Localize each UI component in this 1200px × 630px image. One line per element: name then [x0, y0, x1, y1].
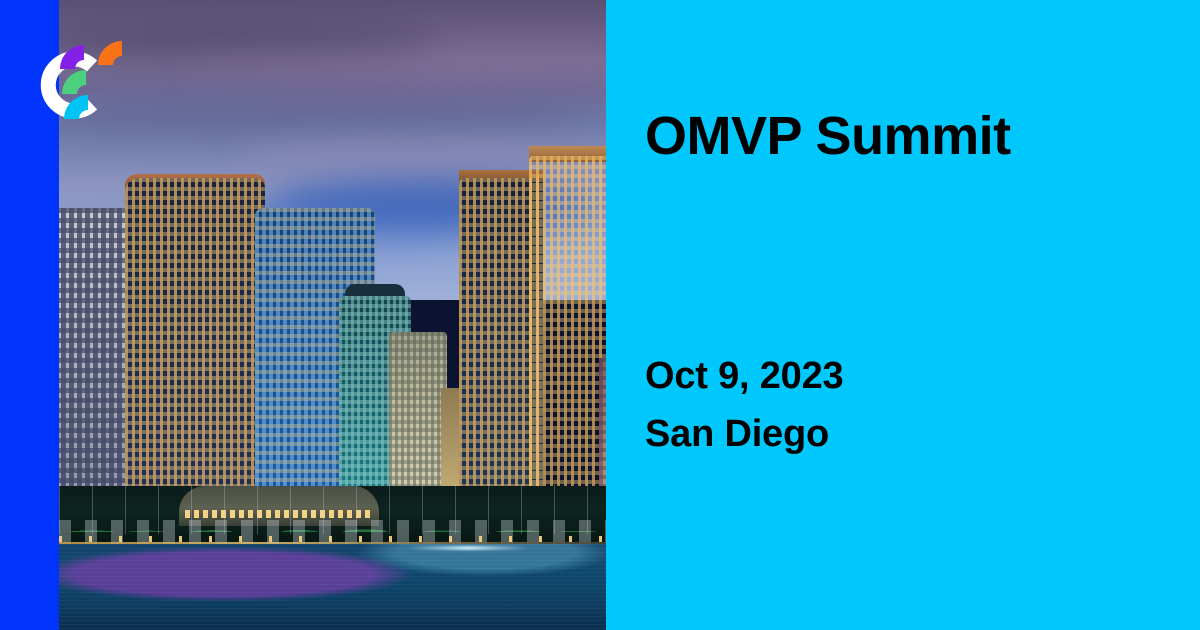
window-grid — [389, 332, 447, 508]
logo-arc-orange — [98, 41, 122, 65]
bay-water — [59, 544, 606, 630]
window-grid — [59, 208, 131, 508]
city-skyline-photo — [59, 0, 606, 630]
event-date: Oct 9, 2023 — [645, 348, 844, 406]
building-white-highrise — [59, 208, 131, 508]
building-curved-condo-tower — [125, 178, 265, 508]
event-banner-card: OMVP Summit Oct 9, 2023 San Diego — [0, 0, 1200, 630]
event-title: OMVP Summit — [645, 108, 1011, 165]
cloud-streak — [179, 54, 606, 92]
event-location: San Diego — [645, 406, 844, 464]
event-meta: Oct 9, 2023 San Diego — [645, 348, 844, 464]
cloud-streak — [59, 96, 589, 136]
brand-logo[interactable] — [30, 24, 134, 122]
building-cream-midrise — [389, 332, 447, 508]
window-grid — [529, 156, 606, 508]
building-dark-tower-right — [529, 156, 606, 508]
logo-arc-green — [62, 70, 86, 94]
window-grid — [125, 178, 265, 508]
water-light-reflection — [408, 546, 528, 550]
event-text-column: OMVP Summit Oct 9, 2023 San Diego — [645, 0, 1165, 630]
